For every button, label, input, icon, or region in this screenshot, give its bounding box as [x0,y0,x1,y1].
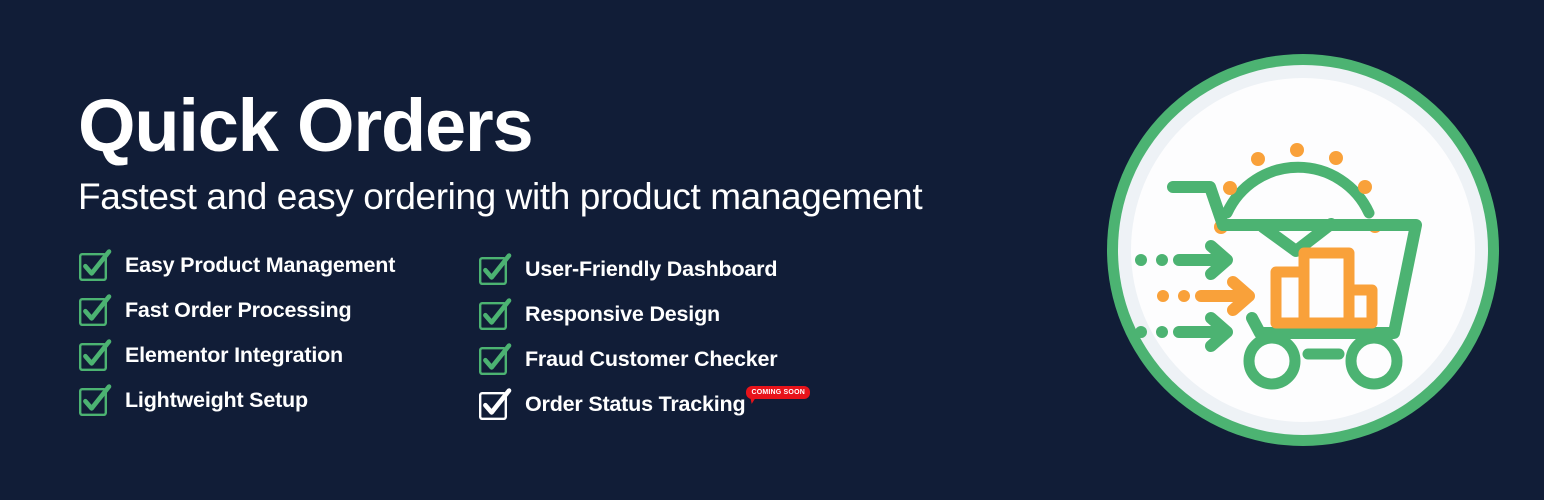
checkbox-checked-icon [78,384,111,417]
list-item-text: Order Status Tracking [525,392,745,416]
list-item: Lightweight Setup [78,378,478,423]
checkbox-checked-icon [478,388,511,421]
list-item-label: Lightweight Setup [125,388,308,413]
feature-column-left: Easy Product Management Fast Order Proce… [78,243,478,427]
checkbox-checked-icon [478,253,511,286]
list-item-label: Easy Product Management [125,253,395,278]
list-item-label: Order Status TrackingCOMING SOON [525,392,810,417]
list-item: Order Status TrackingCOMING SOON [478,382,898,427]
checkbox-checked-icon [478,298,511,331]
list-item: User-Friendly Dashboard [478,247,898,292]
list-item-label: Fraud Customer Checker [525,347,777,372]
list-item: Fast Order Processing [78,288,478,333]
page-title: Quick Orders [78,86,1068,166]
list-item: Fraud Customer Checker [478,337,898,382]
checkbox-checked-icon [78,339,111,372]
checkbox-checked-icon [478,343,511,376]
list-item: Easy Product Management [78,243,478,288]
quick-orders-banner: Quick Orders Fastest and easy ordering w… [0,0,1544,500]
list-item: Responsive Design [478,292,898,337]
list-item-label: Fast Order Processing [125,298,351,323]
checkbox-checked-icon [78,249,111,282]
checkbox-checked-icon [78,294,111,327]
headline-block: Quick Orders Fastest and easy ordering w… [78,86,1068,222]
feature-column-right: User-Friendly Dashboard Responsive Desig… [478,243,898,427]
list-item-label: Responsive Design [525,302,720,327]
list-item: Elementor Integration [78,333,478,378]
feature-list: Easy Product Management Fast Order Proce… [78,243,978,427]
list-item-label: Elementor Integration [125,343,343,368]
page-subtitle: Fastest and easy ordering with product m… [78,172,1068,222]
list-item-label: User-Friendly Dashboard [525,257,777,282]
status-badge: COMING SOON [746,386,810,399]
quick-orders-cart-illustration [1103,48,1503,452]
